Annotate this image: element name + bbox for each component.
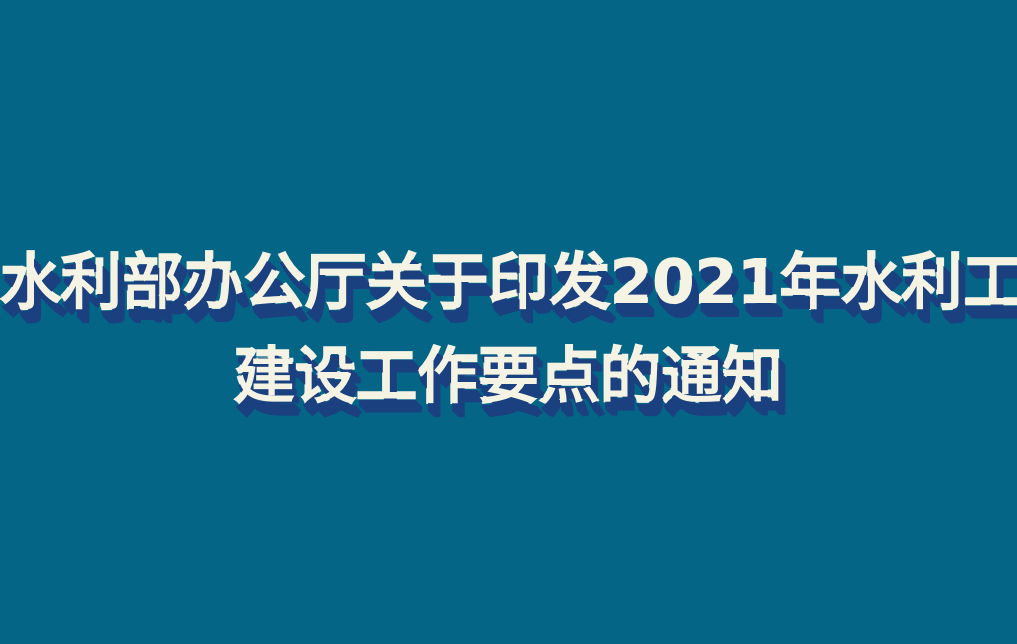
poster-title: 水利部办公厅关于印发2021年水利工程 建设工作要点的通知	[0, 236, 1017, 424]
title-card-poster: 水利部办公厅关于印发2021年水利工程 建设工作要点的通知	[0, 0, 1017, 644]
title-line-2: 建设工作要点的通知	[0, 330, 1017, 424]
title-line-1: 水利部办公厅关于印发2021年水利工程	[0, 236, 1017, 330]
